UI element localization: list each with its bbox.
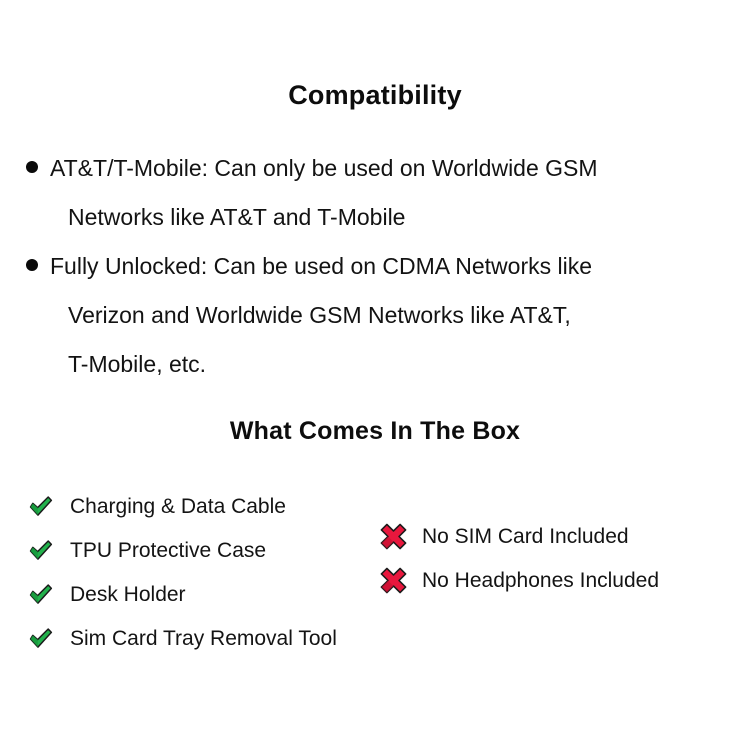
list-item-label: Charging & Data Cable xyxy=(70,496,286,517)
green-check-icon xyxy=(26,580,55,609)
compatibility-bullet-continuation: Verizon and Worldwide GSM Networks like … xyxy=(26,291,732,340)
list-item: No Headphones Included xyxy=(378,558,659,602)
compatibility-heading: Compatibility xyxy=(0,80,750,111)
list-item-label: Sim Card Tray Removal Tool xyxy=(70,628,337,649)
compatibility-bullet-text: Fully Unlocked: Can be used on CDMA Netw… xyxy=(50,253,592,279)
compatibility-bullet-continuation: T-Mobile, etc. xyxy=(26,340,732,389)
list-item-label: TPU Protective Case xyxy=(70,540,266,561)
list-item: Charging & Data Cable xyxy=(26,484,337,528)
product-info-panel: Compatibility AT&T/T-Mobile: Can only be… xyxy=(0,0,750,750)
compatibility-bullet: Fully Unlocked: Can be used on CDMA Netw… xyxy=(26,242,732,389)
list-item: No SIM Card Included xyxy=(378,514,659,558)
red-cross-icon xyxy=(378,565,409,596)
red-cross-icon xyxy=(378,521,409,552)
compatibility-bullet: AT&T/T-Mobile: Can only be used on World… xyxy=(26,144,732,242)
green-check-icon xyxy=(26,492,55,521)
green-check-icon xyxy=(26,536,55,565)
compatibility-bullet-line: AT&T/T-Mobile: Can only be used on World… xyxy=(26,144,732,193)
list-item-label: No Headphones Included xyxy=(422,570,659,591)
list-item: Desk Holder xyxy=(26,572,337,616)
compatibility-list: AT&T/T-Mobile: Can only be used on World… xyxy=(26,144,732,389)
excluded-items-list: No SIM Card Included No Headphones Inclu… xyxy=(378,514,659,602)
list-item: Sim Card Tray Removal Tool xyxy=(26,616,337,660)
list-item: TPU Protective Case xyxy=(26,528,337,572)
compatibility-bullet-line: Fully Unlocked: Can be used on CDMA Netw… xyxy=(26,242,732,291)
bullet-dot-icon xyxy=(26,259,38,271)
list-item-label: No SIM Card Included xyxy=(422,526,629,547)
compatibility-bullet-text: AT&T/T-Mobile: Can only be used on World… xyxy=(50,155,598,181)
included-items-list: Charging & Data Cable TPU Protective Cas… xyxy=(26,484,337,660)
green-check-icon xyxy=(26,624,55,653)
compatibility-bullet-continuation: Networks like AT&T and T-Mobile xyxy=(26,193,732,242)
bullet-dot-icon xyxy=(26,161,38,173)
list-item-label: Desk Holder xyxy=(70,584,186,605)
box-contents-heading: What Comes In The Box xyxy=(0,417,750,446)
